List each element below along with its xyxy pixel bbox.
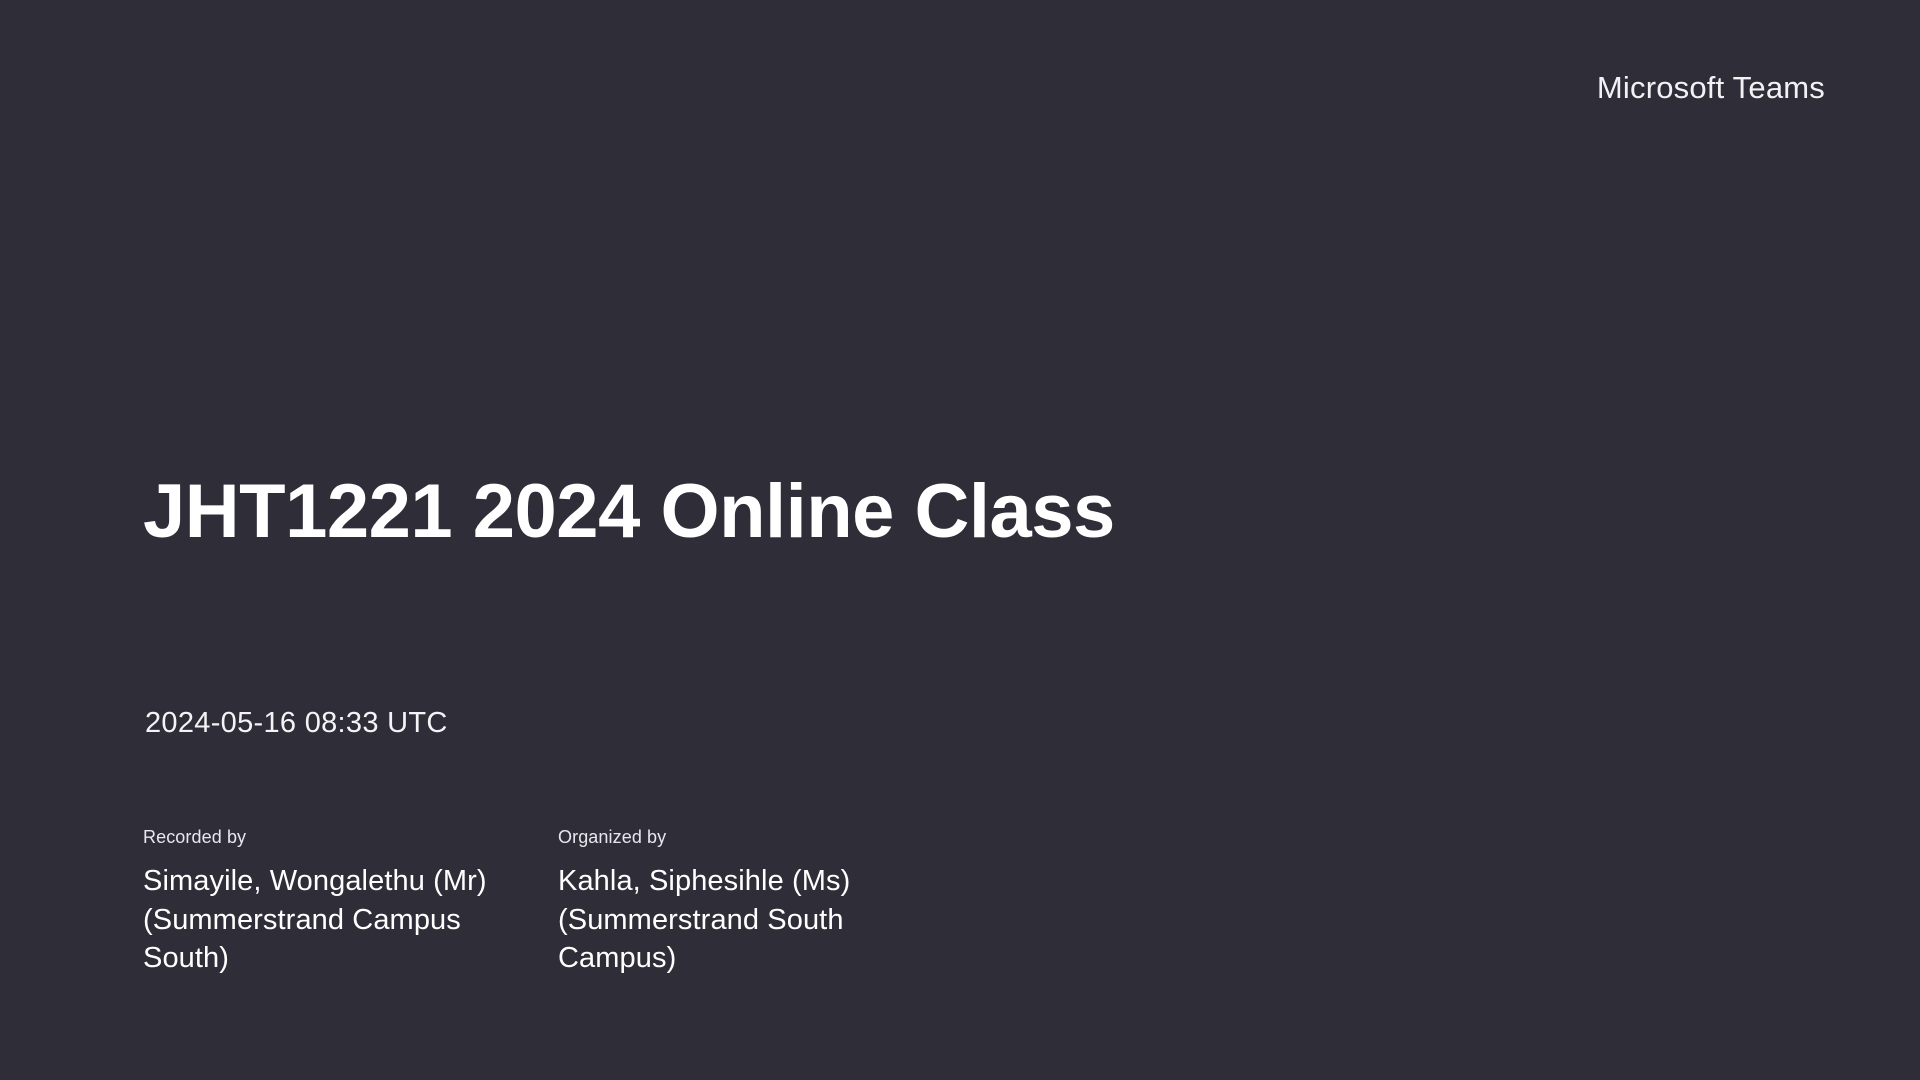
recording-timestamp: 2024-05-16 08:33 UTC — [145, 709, 448, 738]
organized-by-name: Kahla, Siphesihle (Ms) (Summerstrand Sou… — [558, 862, 918, 978]
page-title: JHT1221 2024 Online Class — [143, 472, 1115, 552]
microsoft-teams-brand-label: Microsoft Teams — [1597, 72, 1825, 103]
organized-by-label: Organized by — [558, 828, 973, 846]
credits-row: Recorded by Simayile, Wongalethu (Mr) (S… — [143, 828, 973, 978]
organized-by-column: Organized by Kahla, Siphesihle (Ms) (Sum… — [558, 828, 973, 978]
recording-title-slide: Microsoft Teams JHT1221 2024 Online Clas… — [0, 0, 1920, 1080]
recorded-by-label: Recorded by — [143, 828, 558, 846]
recorded-by-name: Simayile, Wongalethu (Mr) (Summerstrand … — [143, 862, 503, 978]
recorded-by-column: Recorded by Simayile, Wongalethu (Mr) (S… — [143, 828, 558, 978]
